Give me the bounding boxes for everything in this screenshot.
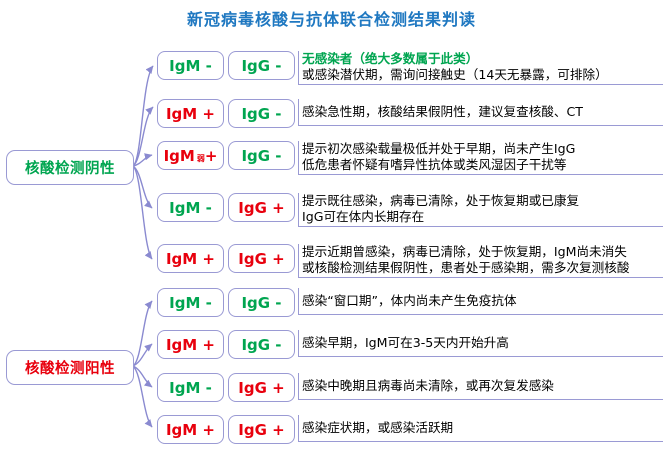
note-line: 或感染潜伏期，需询问接触史（14天无暴露，可排除） bbox=[302, 67, 663, 83]
note-line: IgG可在体内长期存在 bbox=[302, 209, 663, 225]
group-label-text: 核酸检测阴性 bbox=[25, 157, 115, 178]
igm-badge[interactable]: IgM - bbox=[157, 193, 224, 222]
igm-badge[interactable]: IgM - bbox=[157, 288, 224, 317]
note-line: 提示近期曾感染，病毒已清除，处于恢复期，IgM尚未消失 bbox=[302, 244, 663, 260]
interpretation-note: 感染中晚期且病毒尚未清除，或再次复发感染 bbox=[298, 373, 663, 400]
igm-badge[interactable]: IgM - bbox=[157, 373, 224, 402]
result-row[interactable]: IgM - IgG - 感染“窗口期”，体内尚未产生免疫抗体 bbox=[157, 288, 663, 317]
note-line: 感染急性期，核酸结果假阴性，建议复查核酸、CT bbox=[302, 104, 663, 120]
interpretation-note: 提示初次感染载量极低并处于早期，尚未产生IgG 低危患者怀疑有嗜异性抗体或类风湿… bbox=[298, 141, 663, 175]
interpretation-note: 感染早期，IgM可在3-5天内开始升高 bbox=[298, 330, 663, 357]
igg-badge[interactable]: IgG + bbox=[228, 193, 295, 222]
interpretation-note: 无感染者（绝大多数属于此类） 或感染潜伏期，需询问接触史（14天无暴露，可排除） bbox=[298, 51, 663, 85]
note-line: 无感染者（绝大多数属于此类） bbox=[302, 51, 663, 67]
igm-badge[interactable]: IgM弱+ bbox=[157, 141, 224, 170]
group-label-nucleic-acid-negative[interactable]: 核酸检测阴性 bbox=[6, 150, 134, 185]
note-line: 感染早期，IgM可在3-5天内开始升高 bbox=[302, 335, 663, 351]
igm-badge-sign: + bbox=[205, 147, 218, 165]
igg-badge[interactable]: IgG - bbox=[228, 141, 295, 170]
interpretation-note: 提示既往感染，病毒已清除，处于恢复期或已康复 IgG可在体内长期存在 bbox=[298, 193, 663, 227]
note-line: 感染“窗口期”，体内尚未产生免疫抗体 bbox=[302, 293, 663, 309]
interpretation-note: 感染症状期，或感染活跃期 bbox=[298, 415, 663, 442]
weak-marker: 弱 bbox=[197, 153, 205, 164]
igm-badge-text: IgM bbox=[164, 147, 195, 165]
interpretation-note: 感染急性期，核酸结果假阴性，建议复查核酸、CT bbox=[298, 99, 663, 126]
group-label-text: 核酸检测阳性 bbox=[25, 357, 115, 378]
note-line: 感染中晚期且病毒尚未清除，或再次复发感染 bbox=[302, 378, 663, 394]
result-row[interactable]: IgM弱+ IgG - 提示初次感染载量极低并处于早期，尚未产生IgG 低危患者… bbox=[157, 141, 663, 175]
result-row[interactable]: IgM + IgG - 感染早期，IgM可在3-5天内开始升高 bbox=[157, 330, 663, 359]
page-title: 新冠病毒核酸与抗体联合检测结果判读 bbox=[0, 6, 663, 30]
igg-badge[interactable]: IgG - bbox=[228, 330, 295, 359]
igg-badge[interactable]: IgG - bbox=[228, 51, 295, 80]
result-row[interactable]: IgM + IgG + 提示近期曾感染，病毒已清除，处于恢复期，IgM尚未消失 … bbox=[157, 244, 663, 278]
igm-badge[interactable]: IgM + bbox=[157, 244, 224, 273]
group-label-nucleic-acid-positive[interactable]: 核酸检测阳性 bbox=[6, 350, 134, 385]
igm-badge[interactable]: IgM + bbox=[157, 415, 224, 444]
igg-badge[interactable]: IgG + bbox=[228, 244, 295, 273]
interpretation-note: 感染“窗口期”，体内尚未产生免疫抗体 bbox=[298, 288, 663, 315]
note-line: 或核酸检测结果假阴性，患者处于感染期，需多次复测核酸 bbox=[302, 260, 663, 276]
igm-badge[interactable]: IgM + bbox=[157, 99, 224, 128]
mindmap-diagram: 新冠病毒核酸与抗体联合检测结果判读 核酸检测阴性 核酸检测阳性 bbox=[0, 0, 663, 459]
note-line: 提示既往感染，病毒已清除，处于恢复期或已康复 bbox=[302, 193, 663, 209]
note-line: 感染症状期，或感染活跃期 bbox=[302, 420, 663, 436]
igm-badge[interactable]: IgM - bbox=[157, 51, 224, 80]
igg-badge[interactable]: IgG - bbox=[228, 288, 295, 317]
interpretation-note: 提示近期曾感染，病毒已清除，处于恢复期，IgM尚未消失 或核酸检测结果假阴性，患… bbox=[298, 244, 663, 278]
result-row[interactable]: IgM + IgG + 感染症状期，或感染活跃期 bbox=[157, 415, 663, 444]
note-line: 低危患者怀疑有嗜异性抗体或类风湿因子干扰等 bbox=[302, 157, 663, 173]
igm-badge[interactable]: IgM + bbox=[157, 330, 224, 359]
note-line: 提示初次感染载量极低并处于早期，尚未产生IgG bbox=[302, 141, 663, 157]
igg-badge[interactable]: IgG - bbox=[228, 99, 295, 128]
result-row[interactable]: IgM - IgG + 感染中晚期且病毒尚未清除，或再次复发感染 bbox=[157, 373, 663, 402]
result-row[interactable]: IgM - IgG - 无感染者（绝大多数属于此类） 或感染潜伏期，需询问接触史… bbox=[157, 51, 663, 85]
igg-badge[interactable]: IgG + bbox=[228, 415, 295, 444]
result-row[interactable]: IgM - IgG + 提示既往感染，病毒已清除，处于恢复期或已康复 IgG可在… bbox=[157, 193, 663, 227]
result-row[interactable]: IgM + IgG - 感染急性期，核酸结果假阴性，建议复查核酸、CT bbox=[157, 99, 663, 128]
igg-badge[interactable]: IgG + bbox=[228, 373, 295, 402]
